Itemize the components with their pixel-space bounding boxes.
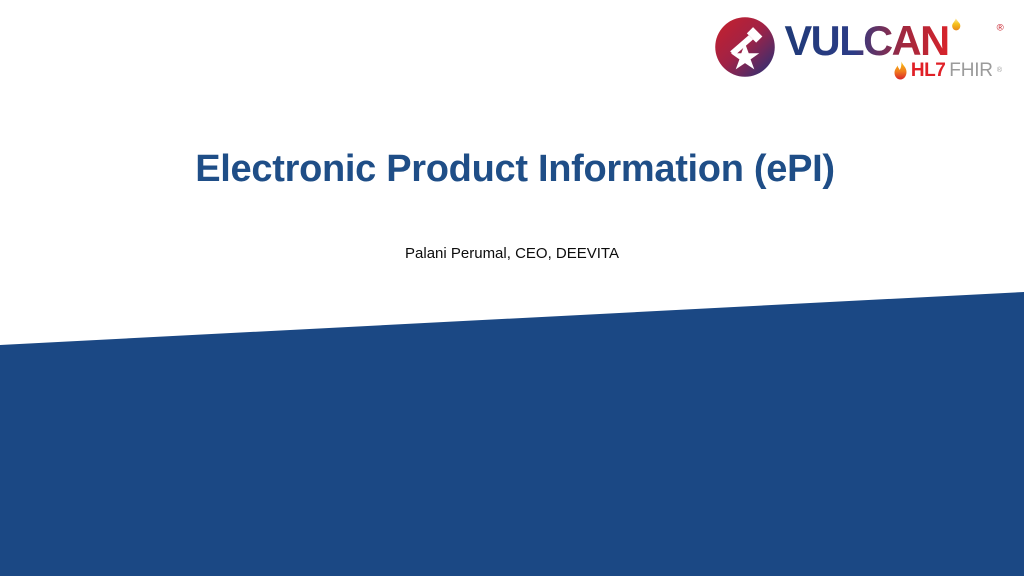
page-title: Electronic Product Information (ePI) xyxy=(0,148,1024,191)
svg-text:VULCAN: VULCAN xyxy=(785,17,949,60)
vulcan-logo: VULCAN ® xyxy=(714,14,1006,80)
title-slide: VULCAN ® xyxy=(0,0,1024,576)
vulcan-wordmark-wrap: VULCAN ® xyxy=(783,14,1006,60)
vulcan-hammer-star-emblem xyxy=(714,16,776,78)
hl7-fhir-lockup: HL7 FHIR ® xyxy=(893,61,1002,80)
hl7-label: HL7 xyxy=(911,61,945,80)
wordmark-trademark-icon: ® xyxy=(997,22,1004,33)
fhir-trademark-icon: ® xyxy=(997,67,1002,74)
fhir-flame-icon xyxy=(893,61,908,80)
vulcan-wordmark: VULCAN ® xyxy=(783,14,1006,60)
presenter-subtitle: Palani Perumal, CEO, DEEVITA xyxy=(0,245,1024,262)
fhir-label: FHIR xyxy=(949,61,993,80)
bottom-diagonal-band xyxy=(0,0,1024,576)
